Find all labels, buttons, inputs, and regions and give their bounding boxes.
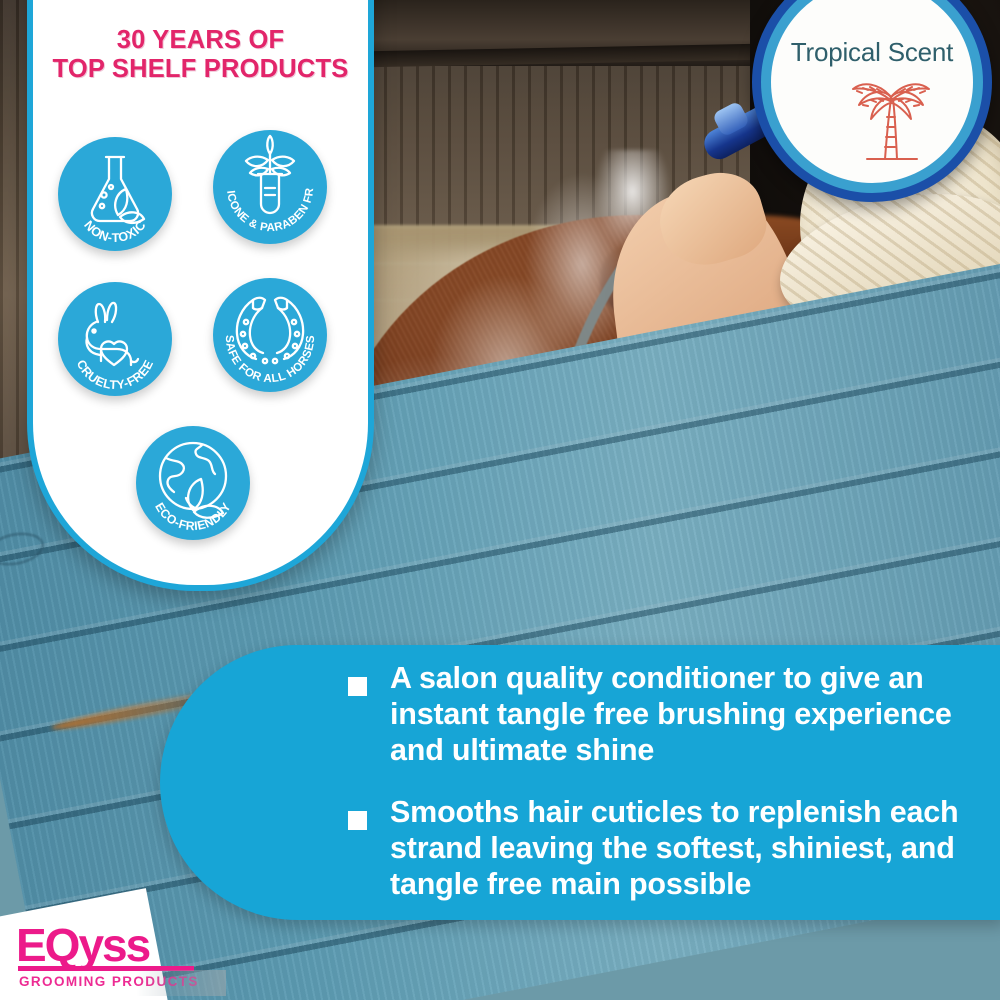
badge-non-toxic[interactable]: NON-TOXIC [58,137,172,251]
rabbit-heart-icon: CRUELTY-FREE [58,282,172,396]
deck-wood-knot [0,528,47,570]
badge-safe-for-all-horses[interactable]: SAFE FOR ALL HORSES [213,278,327,392]
brand-logo: EQyss GROOMING PRODUCTS [16,922,206,994]
bullet-square-icon [348,677,367,696]
logo-fade-overlay [136,970,226,996]
headline-line-2: TOP SHELF PRODUCTS [33,55,368,84]
globe-leaf-icon: ECO-FRIENDLY [136,426,250,540]
features-panel: 30 YEARS OF TOP SHELF PRODUCTS NON-TOXIC [27,0,374,591]
badge-cruelty-free[interactable]: CRUELTY-FREE [58,282,172,396]
badge-eco-friendly[interactable]: ECO-FRIENDLY [136,426,250,540]
brand-name: EQyss [16,918,149,972]
flask-leaf-icon: NON-TOXIC [58,137,172,251]
horseshoe-icon: SAFE FOR ALL HORSES [213,278,327,392]
benefit-text: Smooths hair cuticles to replenish each … [390,795,999,903]
palm-tree-icon [829,63,953,173]
benefit-text: A salon quality conditioner to give an i… [390,661,999,769]
benefits-list: A salon quality conditioner to give an i… [348,661,999,929]
badge-label: ECO-FRIENDLY [152,500,234,533]
badge-label: SILICONE & PARABEN FREE [209,121,316,234]
bullet-square-icon [348,811,367,830]
badge-label: CRUELTY-FREE [74,358,157,393]
test-tube-leaf-icon: SILICONE & PARABEN FREE [213,130,327,244]
benefits-panel: A salon quality conditioner to give an i… [160,645,1000,920]
badge-label: SAFE FOR ALL HORSES [223,335,317,385]
product-marketing-image: 30 YEARS OF TOP SHELF PRODUCTS NON-TOXIC [0,0,1000,1000]
badge-silicone-paraben-free[interactable]: SILICONE & PARABEN FREE [213,130,327,244]
list-item: A salon quality conditioner to give an i… [348,661,999,769]
headline-line-1: 30 YEARS OF [33,26,368,55]
list-item: Smooths hair cuticles to replenish each … [348,795,999,903]
page-headline: 30 YEARS OF TOP SHELF PRODUCTS [33,26,368,84]
